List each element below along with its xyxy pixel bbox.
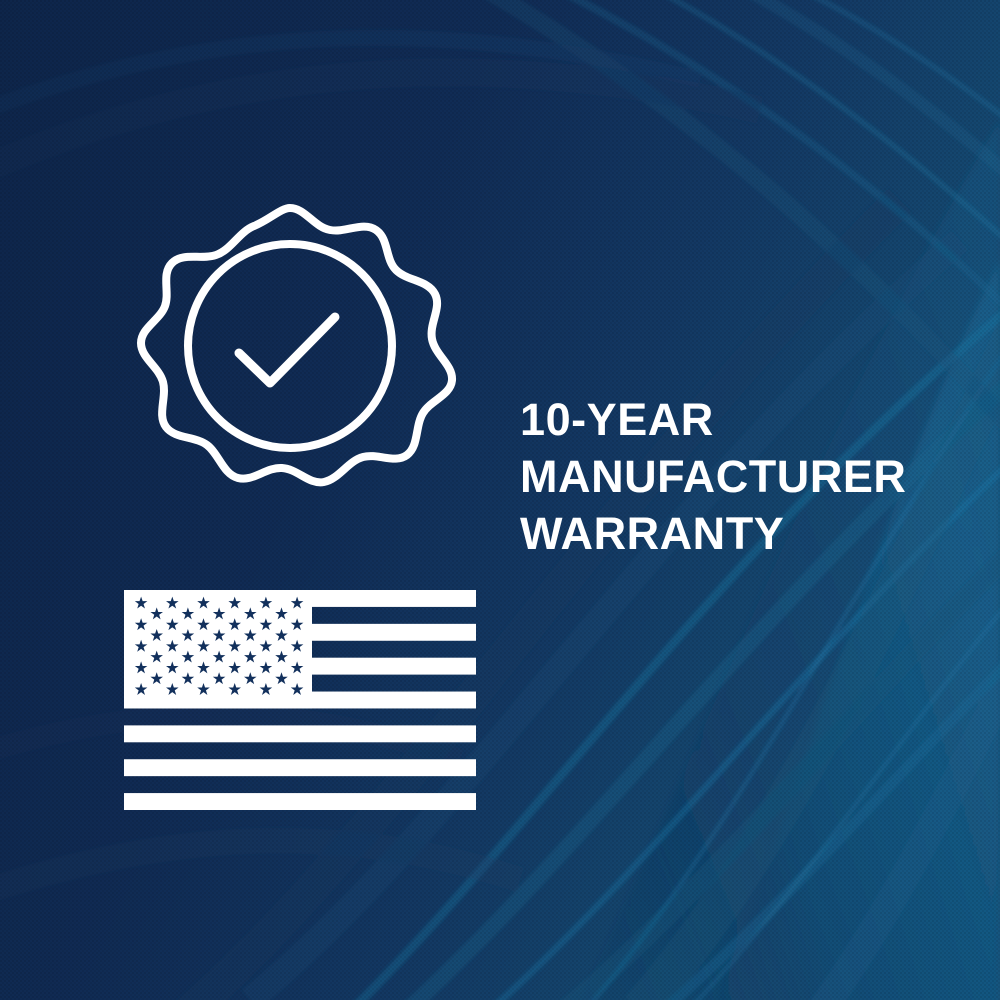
warranty-line-1: 10-YEAR — [520, 391, 950, 448]
warranty-line-2: MANUFACTURER — [520, 448, 950, 505]
warranty-text-block: 10-YEAR MANUFACTURER WARRANTY — [520, 391, 950, 562]
check-badge-seal-icon — [120, 180, 460, 520]
feature-graphic: 10-YEAR MANUFACTURER WARRANTY — [0, 0, 1000, 1000]
usa-flag-icon — [124, 590, 476, 810]
feature-warranty: 10-YEAR MANUFACTURER WARRANTY — [0, 150, 1000, 550]
feature-assembled-in-usa: ASSEMBLED IN USA — [0, 560, 1000, 840]
warranty-line-3: WARRANTY — [520, 505, 950, 562]
flag-canton — [124, 590, 312, 708]
